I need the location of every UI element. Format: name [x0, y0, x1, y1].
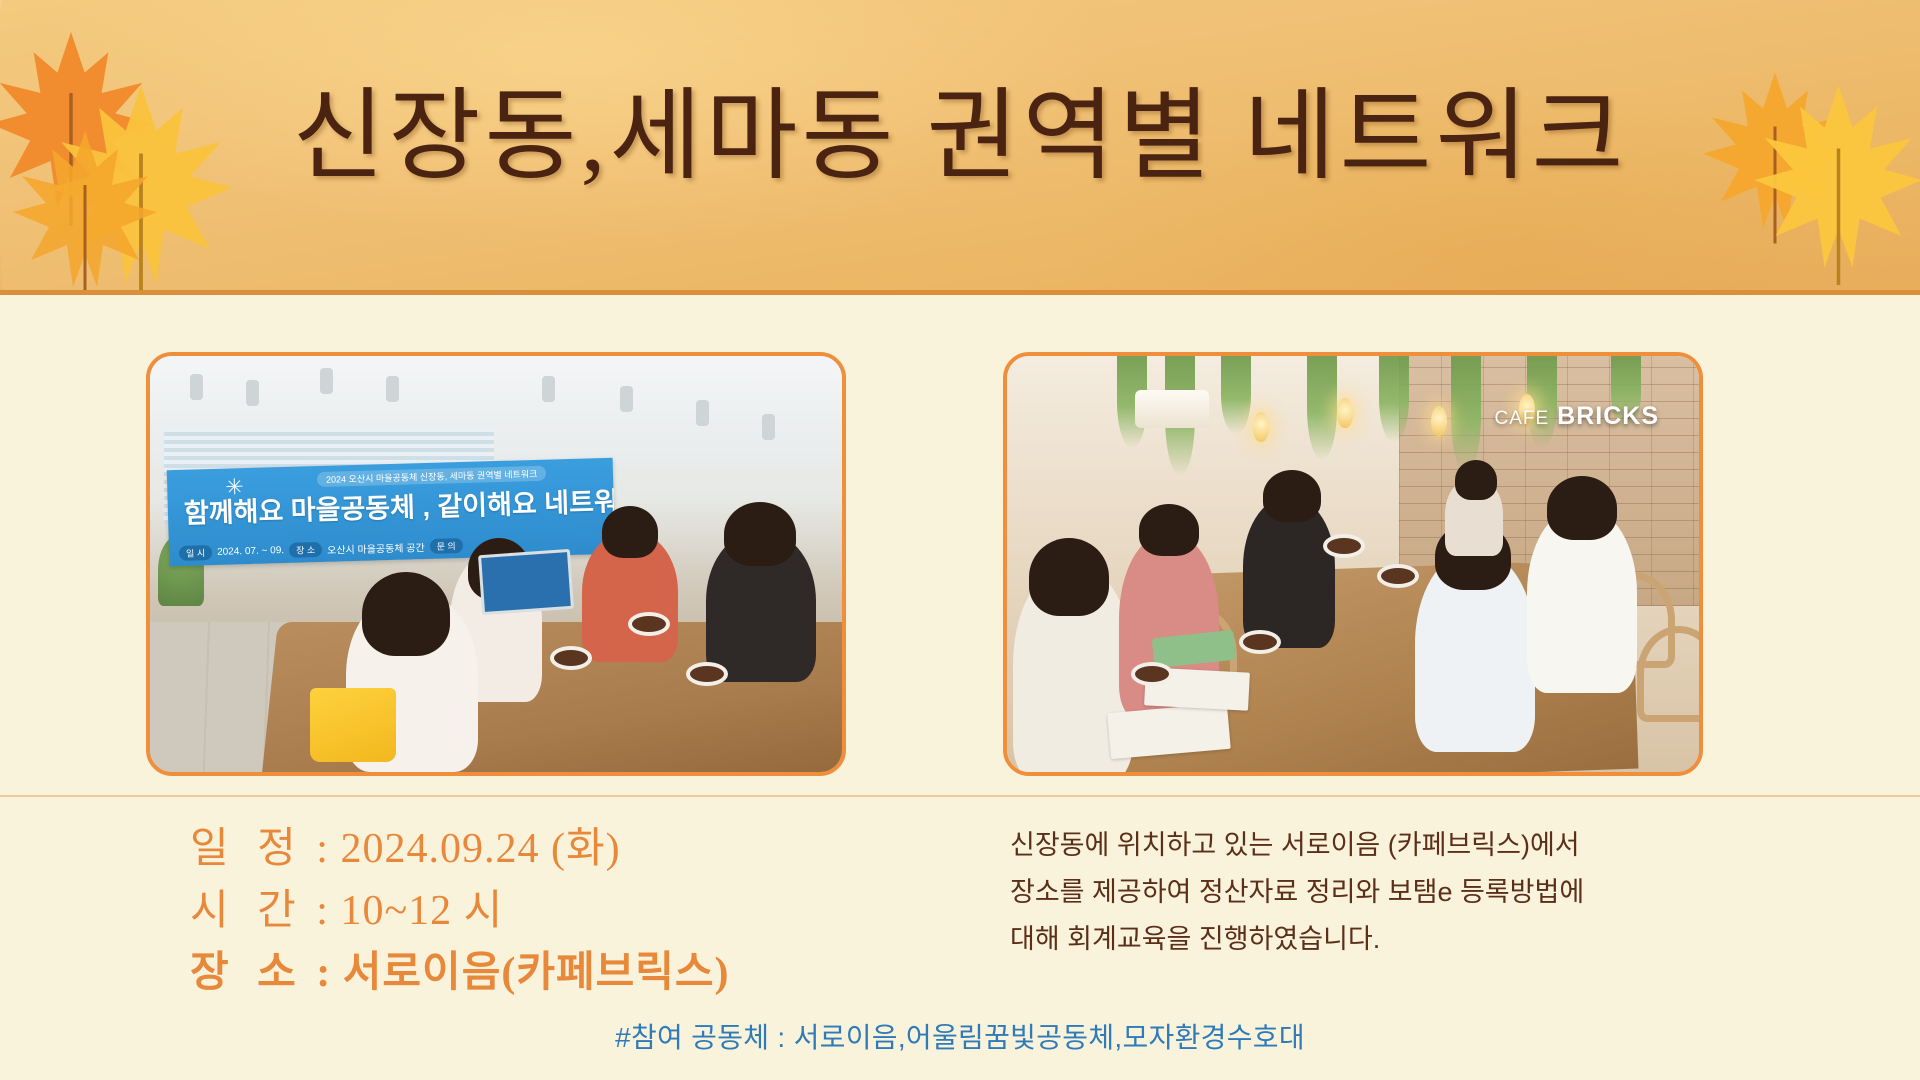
person-hair	[602, 506, 658, 558]
info-row-place: 장 소 : 서로이음(카페브릭스)	[190, 942, 730, 1004]
coffee-cup	[628, 612, 670, 636]
banner-date-value: 2024. 07. ~ 09.	[217, 545, 284, 558]
coffee-cup	[1323, 534, 1365, 558]
participating-groups-hashtag: #참여 공동체 : 서로이음,어울림꿈빛공동체,모자환경수호대	[0, 1016, 1920, 1056]
info-label-time: 시 간	[190, 888, 305, 934]
cafe-scene: CAFE BRICKS	[1007, 356, 1699, 772]
description-line: 신장동에 위치하고 있는 서로이음 (카페브릭스)에서	[1010, 822, 1584, 869]
person-hair	[1029, 538, 1109, 616]
person-hair	[362, 572, 450, 656]
info-separator: :	[316, 888, 329, 934]
coffee-cup	[1377, 564, 1419, 588]
coffee-cup	[550, 646, 592, 670]
poster-root: 신장동,세마동 권역별 네트워크	[0, 0, 1920, 1080]
photo-right-content: CAFE BRICKS	[1007, 356, 1699, 772]
photo-left-content: ✳ 2024 오산시 마을공동체 신장동, 세마동 권역별 네트워크 함께해요 …	[150, 356, 842, 772]
coffee-cup	[686, 662, 728, 686]
info-label-place: 장 소	[190, 950, 305, 996]
meeting-photo-left: ✳ 2024 오산시 마을공동체 신장동, 세마동 권역별 네트워크 함께해요 …	[146, 352, 846, 776]
banner-extra-label: 문 의	[429, 538, 462, 554]
person-hair	[1263, 470, 1321, 522]
description-line: 대해 회계교육을 진행하였습니다.	[1010, 916, 1584, 963]
event-info-block: 일 정 : 2024.09.24 (화) 시 간 : 10~12 시 장 소 :…	[190, 818, 730, 1004]
yellow-bag	[310, 688, 396, 762]
poster-header: 신장동,세마동 권역별 네트워크	[0, 0, 1920, 295]
info-label-date: 일 정	[190, 826, 305, 872]
info-value-place: 서로이음(카페브릭스)	[343, 950, 730, 996]
coffee-cup	[1239, 630, 1281, 654]
info-separator: :	[316, 826, 329, 872]
banner-place-label: 장 소	[289, 542, 322, 558]
info-value-time: 10~12 시	[340, 888, 503, 934]
cafe-bricks-sign: CAFE BRICKS	[1495, 402, 1659, 431]
sign-bricks-text: BRICKS	[1557, 402, 1659, 430]
person-hair	[1139, 504, 1199, 556]
info-separator: :	[316, 950, 331, 996]
description-block: 신장동에 위치하고 있는 서로이음 (카페브릭스)에서 장소를 제공하여 정산자…	[1010, 822, 1584, 963]
sign-cafe-text: CAFE	[1495, 408, 1550, 429]
page-title: 신장동,세마동 권역별 네트워크	[0, 78, 1920, 196]
banner-details: 일 시 2024. 07. ~ 09. 장 소 오산시 마을공동체 공간 문 의	[179, 538, 463, 561]
info-row-time: 시 간 : 10~12 시	[190, 880, 730, 942]
info-row-date: 일 정 : 2024.09.24 (화)	[190, 818, 730, 880]
coffee-cup	[1131, 662, 1173, 686]
banner-place-value: 오산시 마을공동체 공간	[327, 539, 425, 557]
banner-headline: 함께해요 마을공동체 , 같이해요 네트워크	[183, 479, 615, 531]
photo-row: ✳ 2024 오산시 마을공동체 신장동, 세마동 권역별 네트워크 함께해요 …	[0, 352, 1920, 780]
section-divider	[0, 795, 1920, 797]
info-value-date: 2024.09.24 (화)	[340, 826, 620, 872]
banner-date-label: 일 시	[179, 545, 212, 561]
description-line: 장소를 제공하여 정산자료 정리와 보탬e 등록방법에	[1010, 869, 1584, 916]
person-hair	[1547, 476, 1617, 540]
cafe-photo-right: CAFE BRICKS	[1003, 352, 1703, 776]
person-hair	[1455, 460, 1497, 500]
pendant-lamp	[1135, 390, 1209, 428]
laptop	[478, 549, 574, 615]
meeting-room-scene: ✳ 2024 오산시 마을공동체 신장동, 세마동 권역별 네트워크 함께해요 …	[150, 356, 842, 772]
person-hair	[724, 502, 796, 566]
